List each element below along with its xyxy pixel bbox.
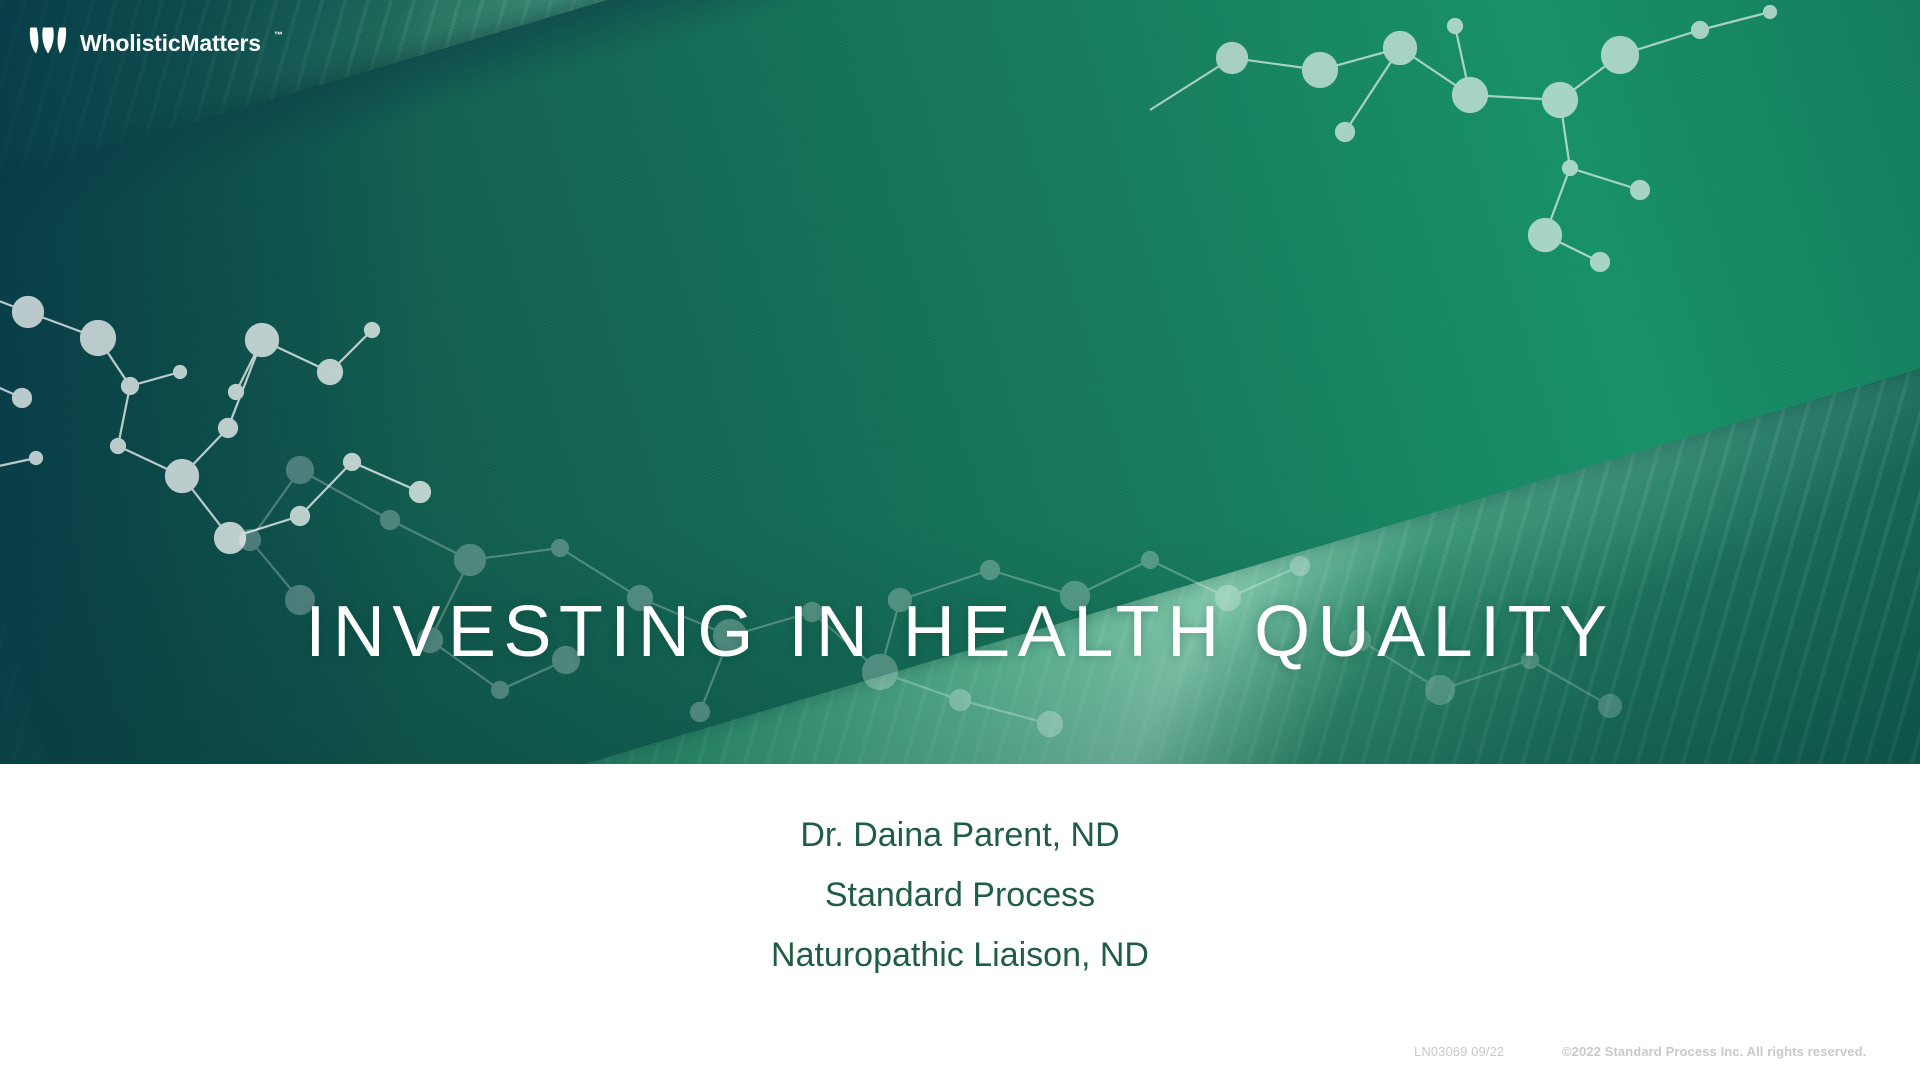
brand-logo[interactable]: WholisticMatters ™ [28,26,282,61]
slide-title: INVESTING IN HEALTH QUALITY [0,596,1920,668]
document-code: LN03069 09/22 [1414,1044,1504,1059]
presenter-block: Dr. Daina Parent, ND Standard Process Na… [0,805,1920,985]
copyright-notice: ©2022 Standard Process Inc. All rights r… [1562,1044,1866,1059]
trademark-symbol: ™ [274,30,283,40]
title-slide: WholisticMatters ™ INVESTING IN HEALTH Q… [0,0,1920,1080]
hero-image-band: WholisticMatters ™ INVESTING IN HEALTH Q… [0,0,1920,764]
brand-logo-text: WholisticMatters [80,30,261,57]
presenter-role: Naturopathic Liaison, ND [0,925,1920,985]
presenter-organization: Standard Process [0,865,1920,925]
presenter-name: Dr. Daina Parent, ND [0,805,1920,865]
three-petal-leaf-icon [28,26,68,61]
slide-footer: LN03069 09/22 ©2022 Standard Process Inc… [0,1044,1920,1064]
